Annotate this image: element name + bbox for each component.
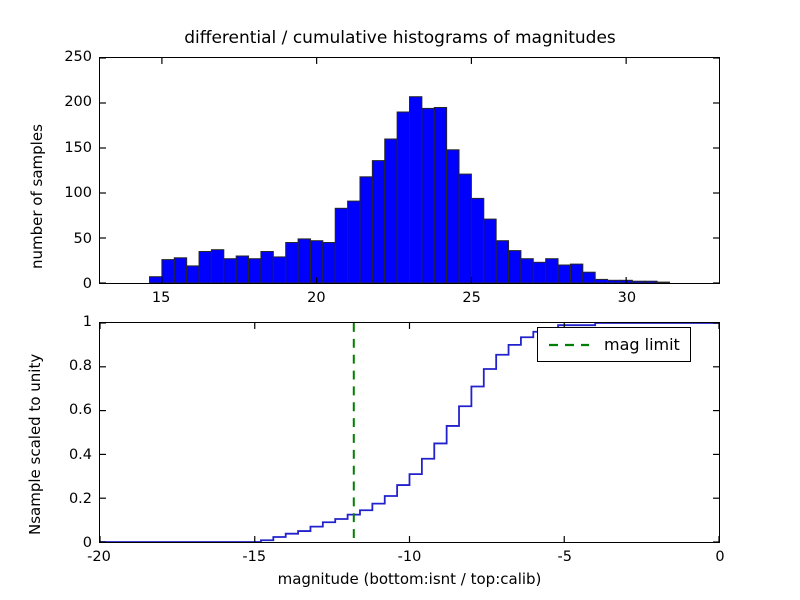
histogram-bar — [447, 150, 459, 283]
histogram-bar — [632, 281, 644, 283]
legend[interactable]: mag limit — [537, 327, 691, 362]
hist-ylabel: number of samples — [28, 124, 46, 269]
histogram-bar — [422, 108, 434, 283]
hist-xtick-15: 15 — [152, 290, 170, 306]
hist-ytick-250: 250 — [44, 49, 92, 65]
figure-title: differential / cumulative histograms of … — [0, 28, 800, 48]
histogram-bar — [236, 256, 248, 283]
histogram-bar — [187, 266, 199, 283]
legend-label-mag-limit: mag limit — [604, 335, 680, 354]
histogram-bar — [298, 239, 310, 283]
histogram-bar — [509, 251, 521, 283]
cum-xtick-0: 0 — [715, 549, 724, 565]
histogram-bar — [335, 208, 347, 283]
histogram-bar — [583, 272, 595, 283]
histogram-bar — [570, 264, 582, 283]
hist-ytick-150: 150 — [44, 140, 92, 156]
hist-ytick-0: 0 — [44, 276, 92, 292]
histogram-bar — [310, 241, 322, 283]
histogram-bar — [261, 252, 273, 284]
cum-ytick-02: 0.2 — [36, 491, 92, 507]
histogram-bar — [385, 139, 397, 283]
histogram-axes — [99, 57, 720, 284]
cum-ytick-0: 0 — [36, 535, 92, 551]
histogram-bar — [558, 265, 570, 283]
hist-ytick-200: 200 — [44, 94, 92, 110]
cum-xlabel: magnitude (bottom:isnt / top:calib) — [278, 570, 542, 588]
histogram-bar — [484, 219, 496, 283]
cum-ytick-10: 1 — [36, 314, 92, 330]
hist-ytick-100: 100 — [44, 185, 92, 201]
histogram-bar — [360, 177, 372, 283]
histogram-bar — [286, 243, 298, 284]
histogram-bar — [397, 112, 409, 283]
cum-xtick-m10: -10 — [398, 549, 422, 565]
histogram-bar — [595, 279, 607, 283]
mag-limit-dashed-line-icon — [547, 339, 591, 351]
histogram-bar — [657, 282, 669, 283]
cum-xtick-m20: -20 — [87, 549, 111, 565]
histogram-bar — [348, 201, 360, 283]
cum-ytick-04: 0.4 — [36, 447, 92, 463]
histogram-bar — [372, 161, 384, 283]
histogram-bar — [410, 97, 422, 283]
hist-ytick-50: 50 — [44, 231, 92, 247]
cum-xtick-m15: -15 — [242, 549, 266, 565]
cum-xtick-m5: -5 — [558, 549, 572, 565]
histogram-bar — [546, 259, 558, 283]
histogram-bar — [323, 243, 335, 284]
histogram-bar — [434, 108, 446, 284]
histogram-bar — [224, 259, 236, 283]
cum-ytick-06: 0.6 — [36, 402, 92, 418]
hist-xtick-20: 20 — [307, 290, 325, 306]
histogram-bar — [521, 259, 533, 283]
histogram-bar — [150, 277, 162, 283]
histogram-bar — [645, 281, 657, 283]
histogram-bar — [249, 259, 261, 283]
histogram-bar — [211, 250, 223, 283]
histogram-bar — [162, 260, 174, 283]
cum-ylabel: Nsample scaled to unity — [26, 354, 44, 535]
histogram-bar — [608, 280, 620, 283]
hist-xtick-25: 25 — [462, 290, 480, 306]
histogram-bar — [459, 174, 471, 283]
histogram-bar — [174, 258, 186, 283]
figure-canvas: differential / cumulative histograms of … — [0, 0, 800, 600]
histogram-bar — [471, 198, 483, 283]
histogram-plot-area — [100, 58, 719, 283]
hist-xtick-30: 30 — [618, 290, 636, 306]
histogram-bar — [199, 252, 211, 284]
histogram-bar — [273, 257, 285, 283]
histogram-bar — [496, 241, 508, 283]
cum-ytick-08: 0.8 — [36, 358, 92, 374]
histogram-bar — [533, 262, 545, 283]
